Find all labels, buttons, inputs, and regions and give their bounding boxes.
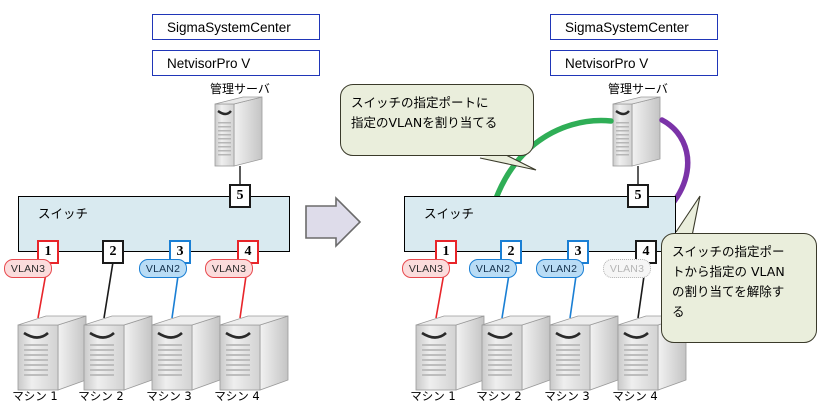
vlan-tag-port2-right: VLAN2	[469, 259, 517, 278]
machine-label-4-left: マシン 4	[204, 388, 270, 404]
port-5-left[interactable]: 5	[229, 184, 251, 208]
vlan-configuration-diagram: SigmaSystemCenter NetvisorPro V 管理サーバ スイ…	[0, 0, 821, 410]
machine-label-1-left: マシン 1	[2, 388, 68, 404]
transition-arrow	[306, 198, 360, 246]
port-2-left[interactable]: 2	[102, 240, 124, 264]
release-callout-tail	[676, 196, 700, 236]
vlan-tag-port3-left: VLAN2	[139, 259, 187, 278]
machine-label-2-left: マシン 2	[68, 388, 134, 404]
machine-label-1-right: マシン 1	[400, 388, 466, 404]
product-label: NetvisorPro V	[167, 56, 250, 71]
vlan-tag-port1-left: VLAN3	[4, 259, 52, 278]
vlan-tag-port4-right-removed: VLAN3	[603, 259, 651, 278]
callout-assign-line-2: 指定のVLANを割り当てる	[351, 113, 523, 133]
machine-label-4-right: マシン 4	[602, 388, 668, 404]
product-label: SigmaSystemCenter	[167, 20, 291, 35]
port-5-right[interactable]: 5	[627, 184, 649, 208]
server-icon-left	[215, 97, 262, 166]
vlan-tag-port1-right: VLAN3	[402, 259, 450, 278]
machine-label-3-right: マシン 3	[534, 388, 600, 404]
product-box-netvisorpro-left[interactable]: NetvisorPro V	[152, 50, 320, 76]
callout-assign-line-1: スイッチの指定ポートに	[351, 93, 523, 113]
server-caption-left: 管理サーバ	[185, 80, 295, 97]
product-label: NetvisorPro V	[565, 56, 648, 71]
switch-label-right: スイッチ	[424, 203, 474, 222]
server-icon-right	[613, 97, 660, 166]
server-caption-right: 管理サーバ	[583, 80, 693, 97]
cable-port2-left	[104, 262, 113, 318]
vlan-tag-port4-left: VLAN3	[205, 259, 253, 278]
callout-release-line-4: る	[672, 302, 806, 322]
machine-label-2-right: マシン 2	[466, 388, 532, 404]
machine-icons	[18, 316, 686, 390]
product-label: SigmaSystemCenter	[565, 20, 689, 35]
callout-release-line-3: の割り当てを解除す	[672, 282, 806, 302]
machine-label-3-left: マシン 3	[136, 388, 202, 404]
switch-label-left: スイッチ	[38, 203, 88, 222]
callout-release-line-2: トから指定の VLAN	[672, 262, 806, 282]
product-box-sigmasystemcenter-left[interactable]: SigmaSystemCenter	[152, 14, 320, 40]
callout-release-line-1: スイッチの指定ポー	[672, 242, 806, 262]
vlan-tag-port3-right: VLAN2	[536, 259, 584, 278]
callout-release-vlan: スイッチの指定ポー トから指定の VLAN の割り当てを解除す る	[661, 233, 817, 343]
product-box-sigmasystemcenter-right[interactable]: SigmaSystemCenter	[550, 14, 718, 40]
product-box-netvisorpro-right[interactable]: NetvisorPro V	[550, 50, 718, 76]
callout-assign-vlan: スイッチの指定ポートに 指定のVLANを割り当てる	[340, 84, 534, 156]
